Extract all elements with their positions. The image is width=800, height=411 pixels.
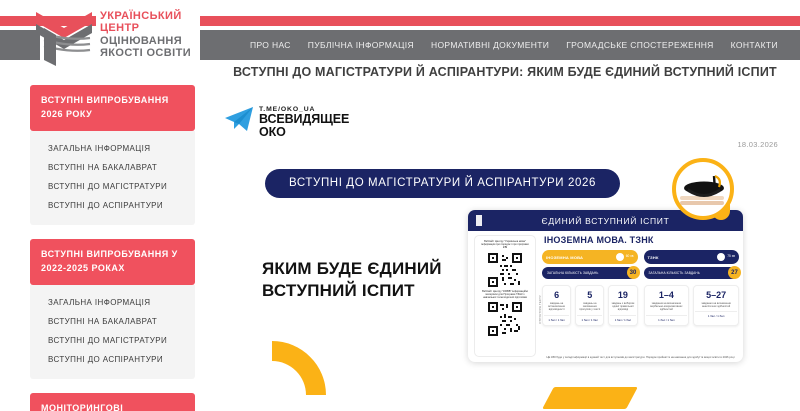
infographic-footnote: ЦЕ ЄВІ буде у складі інформації в єдиний…: [542, 356, 739, 360]
graduation-cap-icon: [672, 158, 734, 220]
sidebar: ВСТУПНІ ВИПРОБУВАННЯ 2026 РОКУ ЗАГАЛЬНА …: [30, 85, 195, 411]
sidebar-block-title-monitoring[interactable]: МОНІТОРИНГОВІ ДОСЛІДЖЕННЯ: [30, 393, 195, 411]
subbar-label-foreign-language: ЗАГАЛЬНА КІЛЬКІСТЬ ЗАВДАНЬ: [547, 271, 598, 275]
logo-line-2: ЦЕНТР: [100, 22, 191, 34]
qr-caption-2: Вебсайт Центру "ЄФВВ" інформаційні матер…: [479, 290, 531, 300]
nav-item-observation[interactable]: ГРОМАДСЬКЕ СПОСТЕРЕЖЕННЯ: [566, 40, 713, 50]
qr-panel: Вебсайт Центру "Українська мова" інформа…: [474, 235, 536, 357]
page-root: УКРАЇНСЬКИЙ ЦЕНТР ОЦІНЮВАННЯ ЯКОСТІ ОСВІ…: [0, 0, 800, 411]
page-title: ВСТУПНІ ДО МАГІСТРАТУРИ Й АСПІРАНТУРИ: Я…: [210, 62, 800, 83]
block-subbar-foreign-language: ЗАГАЛЬНА КІЛЬКІСТЬ ЗАВДАНЬ 30: [542, 267, 638, 279]
sidebar-block-body-2022-2025: ЗАГАЛЬНА ІНФОРМАЦІЯ ВСТУПНІ НА БАКАЛАВРА…: [30, 285, 195, 379]
header-red-bar-right: [200, 16, 800, 26]
infographic-blocks: ІНОЗЕМНА МОВА 60 хв ЗАГАЛЬНА КІЛЬКІСТЬ З…: [542, 250, 739, 326]
sidebar-item-postgraduate-2022[interactable]: ВСТУПНІ ДО АСПІРАНТУРИ: [30, 350, 195, 369]
numcard: 1–4 завдання на визначення вербально-ком…: [644, 285, 690, 326]
nav-item-public-info[interactable]: ПУБЛІЧНА ІНФОРМАЦІЯ: [308, 40, 414, 50]
qr-code-2: [488, 302, 522, 336]
poster-headline-line2: ВСТУПНИЙ ІСПИТ: [262, 280, 442, 302]
badge-count-foreign-language: 30: [627, 266, 640, 279]
logo-line-3: ОЦІНЮВАННЯ: [100, 35, 191, 47]
qr-code-1: [488, 253, 522, 287]
logo-line-1: УКРАЇНСЬКИЙ: [100, 10, 191, 22]
site-header: УКРАЇНСЬКИЙ ЦЕНТР ОЦІНЮВАННЯ ЯКОСТІ ОСВІ…: [0, 0, 800, 70]
watermark-name2: ОКО: [259, 126, 349, 139]
block-header-foreign-language: ІНОЗЕМНА МОВА 60 хв: [542, 250, 638, 264]
sidebar-item-bachelor-2022[interactable]: ВСТУПНІ НА БАКАЛАВРАТ: [30, 312, 195, 331]
publish-date: 18.03.2026: [737, 140, 778, 149]
poster-headline: ЯКИМ БУДЕ ЄДИНИЙ ВСТУПНИЙ ІСПИТ: [262, 258, 442, 302]
telegram-watermark: T.ME/OKO_UA ВСЕВИДЯЩЕЕ ОКО: [224, 104, 349, 139]
nav-item-about[interactable]: ПРО НАС: [250, 40, 291, 50]
numcard: 6 завдань на встановлення відповідності …: [542, 285, 571, 326]
block-time-tznk: 75 хв: [717, 253, 735, 261]
decor-arc-yellow: [210, 319, 348, 411]
sidebar-item-masters-2026[interactable]: ВСТУПНІ ДО МАГІСТРАТУРИ: [30, 177, 195, 196]
clock-icon: [717, 253, 725, 261]
block-name-foreign-language: ІНОЗЕМНА МОВА: [546, 255, 583, 260]
infographic-right-column: ІНОЗЕМНА МОВА. ТЗНК ІНОЗЕМНА МОВА 60 хв: [542, 233, 739, 326]
telegram-icon: [224, 104, 254, 134]
clock-icon: [616, 253, 624, 261]
main-navigation: ПРО НАС ПУБЛІЧНА ІНФОРМАЦІЯ НОРМАТИВНІ Д…: [250, 30, 778, 60]
sidebar-item-postgraduate-2026[interactable]: ВСТУПНІ ДО АСПІРАНТУРИ: [30, 196, 195, 215]
nav-item-contacts[interactable]: КОНТАКТИ: [731, 40, 778, 50]
numcards-tznk: 1–4 завдання на визначення вербально-ком…: [644, 285, 740, 326]
numcards-foreign-language: 6 завдань на встановлення відповідності …: [542, 285, 638, 326]
qr-caption-1: Вебсайт Центру "Українська мова" інформа…: [479, 240, 531, 250]
decor-bar-yellow: [542, 387, 638, 409]
logo-wordmark: УКРАЇНСЬКИЙ ЦЕНТР ОЦІНЮВАННЯ ЯКОСТІ ОСВІ…: [100, 10, 191, 59]
block-header-tznk: ТЗНК 75 хв: [644, 250, 740, 264]
block-subbar-tznk: ЗАГАЛЬНА КІЛЬКІСТЬ ЗАВДАНЬ 27: [644, 267, 740, 279]
nav-item-documents[interactable]: НОРМАТИВНІ ДОКУМЕНТИ: [431, 40, 549, 50]
numcard: 19 завдань з вибором однієї правильної в…: [608, 285, 637, 326]
watermark-name1: ВСЕВИДЯЩЕЕ: [259, 113, 349, 126]
infographic-block-tznk: ТЗНК 75 хв ЗАГАЛЬНА КІЛЬКІСТЬ ЗАВДАНЬ 27: [644, 250, 740, 326]
poster-ribbon: ВСТУПНІ ДО МАГІСТРАТУРИ Й АСПІРАНТУРИ 20…: [265, 169, 620, 198]
infographic-mini-logo-icon: [476, 215, 502, 226]
subbar-label-tznk: ЗАГАЛЬНА КІЛЬКІСТЬ ЗАВДАНЬ: [649, 271, 700, 275]
sidebar-block-title-2026[interactable]: ВСТУПНІ ВИПРОБУВАННЯ 2026 РОКУ: [30, 85, 195, 131]
infographic-block-foreign-language: ІНОЗЕМНА МОВА 60 хв ЗАГАЛЬНА КІЛЬКІСТЬ З…: [542, 250, 638, 326]
watermark-text: T.ME/OKO_UA ВСЕВИДЯЩЕЕ ОКО: [259, 104, 349, 139]
sidebar-block-2022-2025: ВСТУПНІ ВИПРОБУВАННЯ У 2022-2025 РОКАХ З…: [30, 239, 195, 379]
sidebar-block-monitoring: МОНІТОРИНГОВІ ДОСЛІДЖЕННЯ: [30, 393, 195, 411]
infographic-card: ЄДИНИЙ ВСТУПНИЙ ІСПИТ Вебсайт Центру "Ук…: [468, 210, 743, 362]
sidebar-item-general-info-2022[interactable]: ЗАГАЛЬНА ІНФОРМАЦІЯ: [30, 293, 195, 312]
logo-line-4: ЯКОСТІ ОСВІТИ: [100, 47, 191, 59]
sidebar-item-masters-2022[interactable]: ВСТУПНІ ДО МАГІСТРАТУРИ: [30, 331, 195, 350]
sidebar-item-bachelor-2026[interactable]: ВСТУПНІ НА БАКАЛАВРАТ: [30, 158, 195, 177]
main-content: ВСТУПНІ ДО МАГІСТРАТУРИ Й АСПІРАНТУРИ: Я…: [210, 62, 800, 83]
sidebar-block-title-2022-2025[interactable]: ВСТУПНІ ВИПРОБУВАННЯ У 2022-2025 РОКАХ: [30, 239, 195, 285]
article-poster-image: ВСТУПНІ ДО МАГІСТРАТУРИ Й АСПІРАНТУРИ 20…: [210, 150, 800, 411]
block-time-foreign-language: 60 хв: [616, 253, 634, 261]
infographic-body: Вебсайт Центру "Українська мова" інформа…: [468, 231, 743, 362]
numcard: 5–27 завдання на визначення аналітичних …: [693, 285, 739, 326]
sidebar-item-general-info-2026[interactable]: ЗАГАЛЬНА ІНФОРМАЦІЯ: [30, 139, 195, 158]
poster-headline-line1: ЯКИМ БУДЕ ЄДИНИЙ: [262, 258, 442, 280]
sidebar-block-2026: ВСТУПНІ ВИПРОБУВАННЯ 2026 РОКУ ЗАГАЛЬНА …: [30, 85, 195, 225]
block-name-tznk: ТЗНК: [648, 255, 659, 260]
ucoyao-logo-icon[interactable]: [30, 8, 98, 68]
infographic-section-title: ІНОЗЕМНА МОВА. ТЗНК: [544, 235, 739, 245]
numcard: 5 завдань на заповнення пропусків у текс…: [575, 285, 604, 326]
infographic-banner-text: ЄДИНИЙ ВСТУПНИЙ ІСПИТ: [542, 216, 670, 226]
badge-count-tznk: 27: [728, 266, 741, 279]
sidebar-block-body-2026: ЗАГАЛЬНА ІНФОРМАЦІЯ ВСТУПНІ НА БАКАЛАВРА…: [30, 131, 195, 225]
